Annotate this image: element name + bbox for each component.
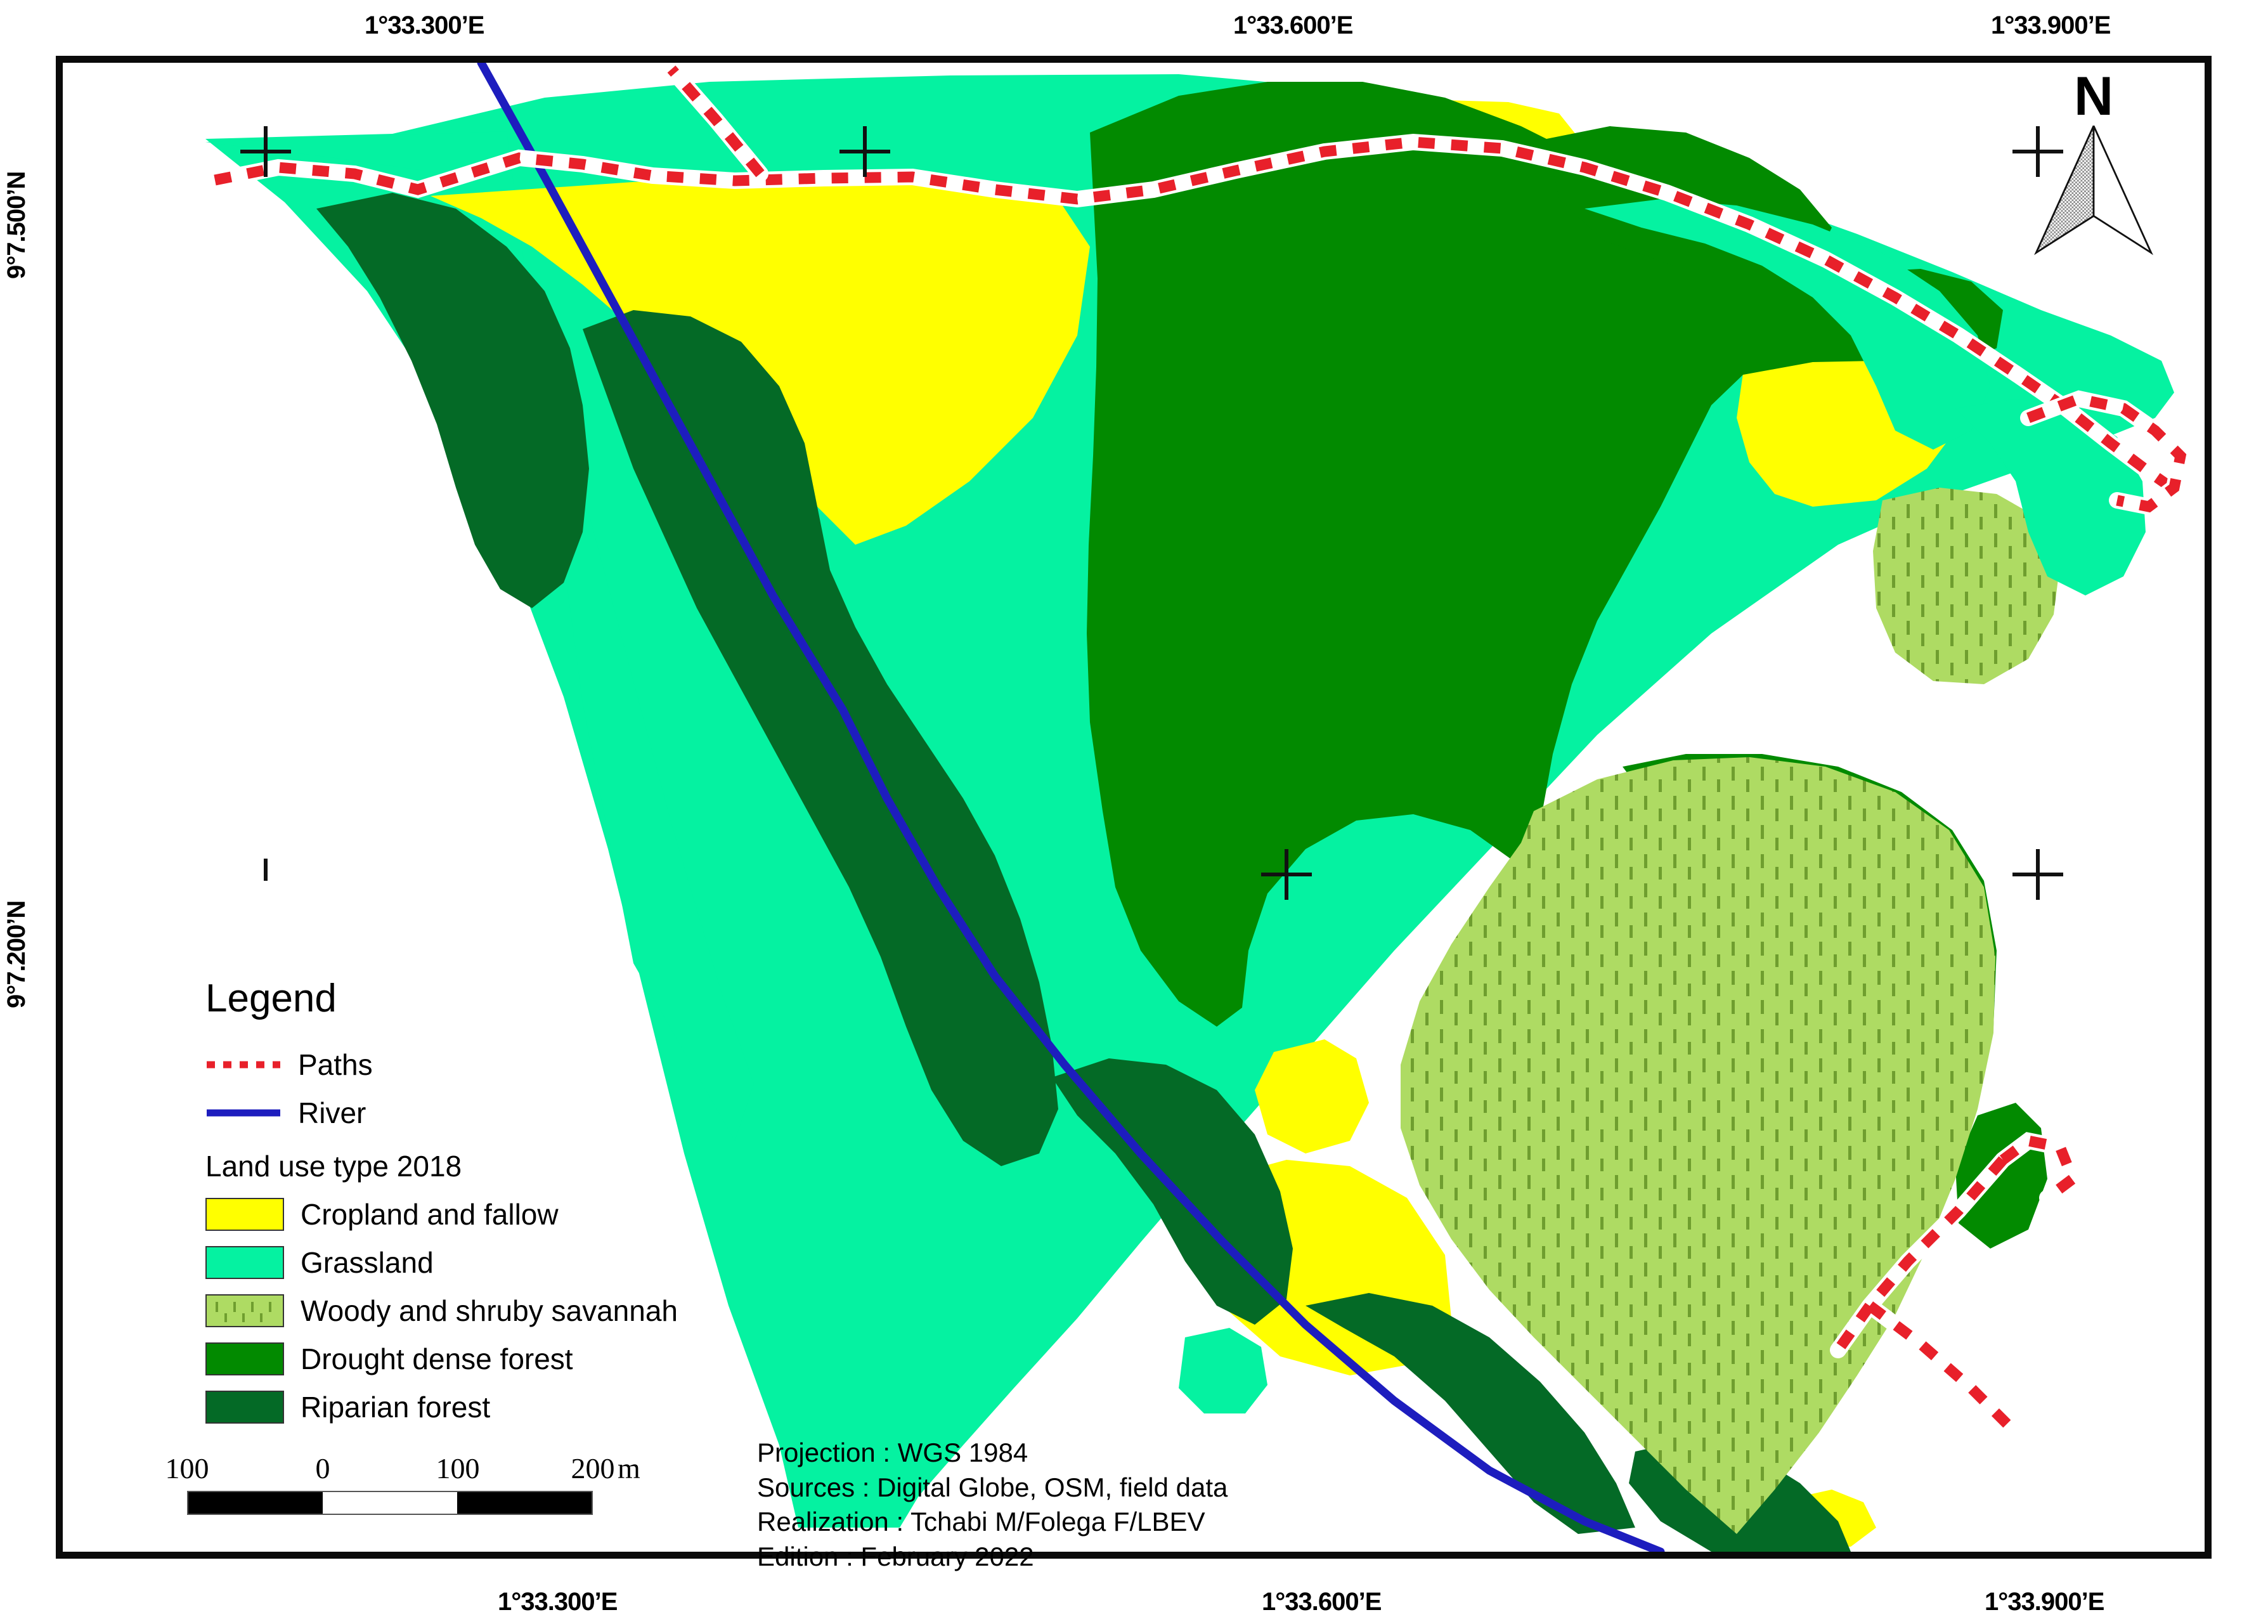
- map-frame: N Legend Paths River Land: [56, 56, 2212, 1559]
- legend-subtitle: Land use type 2018: [205, 1149, 776, 1183]
- graticule-label-bottom-1: 1°33.300’E: [498, 1588, 617, 1616]
- legend-label-savannah: Woody and shruby savannah: [301, 1296, 678, 1325]
- legend-label-cropland: Cropland and fallow: [301, 1200, 559, 1229]
- north-arrow-glyph: [2021, 121, 2167, 257]
- scale-segment-black-1: [188, 1492, 323, 1514]
- scale-bar-graphic: [187, 1491, 593, 1515]
- swatch-savannah: [205, 1294, 284, 1327]
- legend-title: Legend: [205, 976, 776, 1021]
- legend-item-dense-forest: Drought dense forest: [205, 1337, 776, 1381]
- legend-item-paths: Paths: [205, 1043, 776, 1087]
- scale-segment-black-2: [457, 1492, 592, 1514]
- legend-item-grassland: Grassland: [205, 1240, 776, 1285]
- graticule-label-top-1: 1°33.300’E: [365, 11, 484, 40]
- legend-item-cropland: Cropland and fallow: [205, 1192, 776, 1237]
- polygon-grassland-south-small: [1179, 1328, 1267, 1413]
- scale-label-1: 0: [316, 1452, 330, 1485]
- swatch-grassland: [205, 1246, 284, 1279]
- legend-item-riparian-forest: Riparian forest: [205, 1385, 776, 1429]
- legend-label-grassland: Grassland: [301, 1248, 434, 1277]
- river-line-symbol: [205, 1098, 282, 1127]
- graticule-label-bottom-2: 1°33.600’E: [1262, 1588, 1381, 1616]
- swatch-cropland: [205, 1198, 284, 1231]
- polygon-cropland-midwest: [1255, 1039, 1369, 1153]
- graticule-label-top-2: 1°33.600’E: [1233, 11, 1352, 40]
- scale-bar-labels: 100 0 100 200 m: [171, 1452, 602, 1491]
- graticule-cross: [2012, 849, 2063, 900]
- metadata-projection: Projection : WGS 1984: [757, 1436, 1228, 1471]
- graticule-label-bottom-3: 1°33.900’E: [1985, 1588, 2104, 1616]
- scale-segment-white: [323, 1492, 457, 1514]
- scale-bar: 100 0 100 200 m: [171, 1452, 602, 1515]
- legend: Legend Paths River Land use type 2018 Cr…: [205, 976, 776, 1433]
- metadata-edition: Edition : February 2022: [757, 1540, 1228, 1575]
- swatch-riparian-forest: [205, 1391, 284, 1424]
- scale-label-0: 100: [165, 1452, 209, 1485]
- north-arrow: N: [2021, 69, 2167, 272]
- paths-line-symbol: [205, 1050, 282, 1079]
- legend-label-dense-forest: Drought dense forest: [301, 1344, 573, 1374]
- legend-label-river: River: [298, 1098, 366, 1127]
- metadata-sources: Sources : Digital Globe, OSM, field data: [757, 1471, 1228, 1505]
- scale-label-2: 100: [436, 1452, 480, 1485]
- metadata-block: Projection : WGS 1984 Sources : Digital …: [757, 1436, 1228, 1574]
- scale-label-3: 200: [571, 1452, 615, 1485]
- legend-item-savannah: Woody and shruby savannah: [205, 1289, 776, 1333]
- swatch-dense-forest: [205, 1342, 284, 1375]
- metadata-realization: Realization : Tchabi M/Folega F/LBEV: [757, 1505, 1228, 1540]
- legend-item-river: River: [205, 1091, 776, 1135]
- graticule-label-left-1: 9°7.500’N: [3, 172, 31, 279]
- legend-label-paths: Paths: [298, 1050, 373, 1079]
- graticule-label-left-2: 9°7.200’N: [3, 901, 31, 1008]
- north-arrow-letter: N: [2021, 69, 2167, 124]
- legend-label-riparian-forest: Riparian forest: [301, 1393, 490, 1422]
- scale-unit-label: m: [618, 1452, 640, 1485]
- graticule-label-top-3: 1°33.900’E: [1991, 11, 2110, 40]
